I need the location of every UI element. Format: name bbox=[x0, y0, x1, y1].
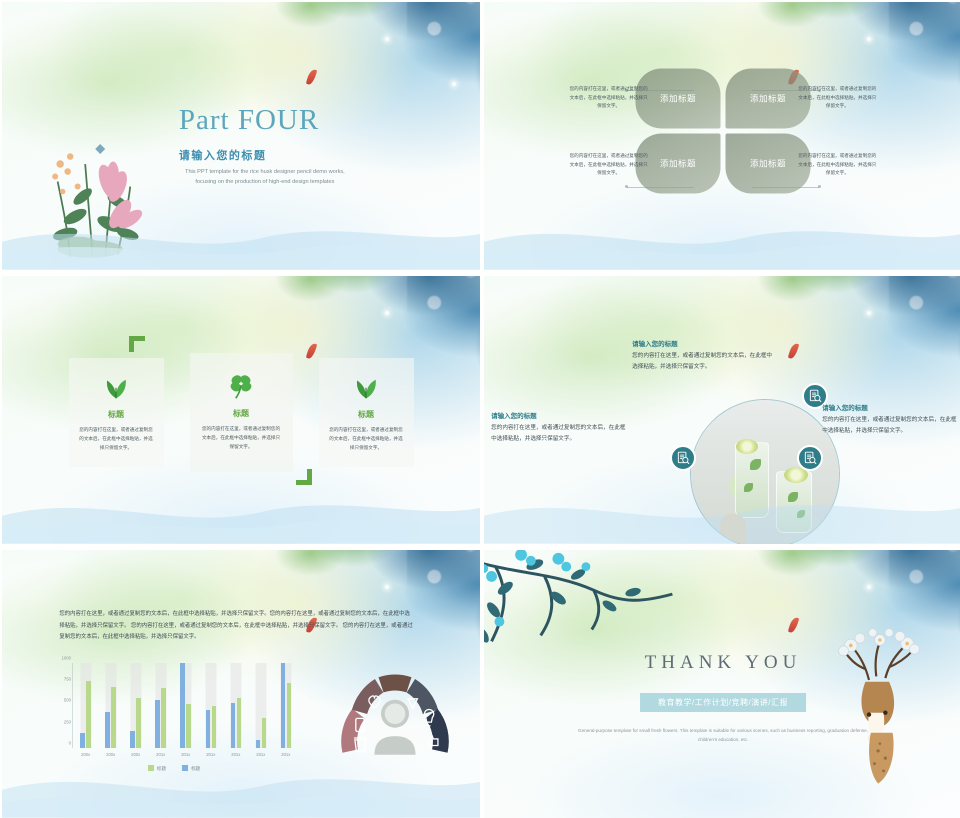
callout-body: 您的内容打在这里，或者通过复制您的文本后，在此框中选择粘贴，并选择只保留文字。 bbox=[491, 423, 626, 445]
slide-5-chart-and-persona[interactable]: 您的内容打在这里，或者通过复制您的文本后，在此框中选择粘贴，并选择只保留文字。您… bbox=[2, 550, 480, 818]
chart-bar-group: 200x bbox=[125, 663, 146, 749]
topic-banner: 教育教学/工作计划/竞聘/演讲/汇报 bbox=[640, 693, 806, 712]
chart-plot-area: 02505007501000200x200x200x201x201x201x20… bbox=[72, 663, 298, 749]
bar-chart: 02505007501000200x200x200x201x201x201x20… bbox=[50, 663, 299, 770]
bottom-wave-decor bbox=[484, 482, 960, 544]
feature-card[interactable]: 标题 您的内容打在这里，或者通过复制您的文本后，在此框中选择粘贴，并选择只保留文… bbox=[190, 353, 293, 472]
callout-right-bottom: 您的内容打在这里，或者通过复制您的文本后，在此框中选择粘贴，并选择只保留文字。 bbox=[796, 152, 878, 177]
chart-bar-series-green bbox=[111, 687, 116, 749]
leaf-icon bbox=[79, 374, 154, 400]
callout-body: 您的内容打在这里，或者通过复制您的文本后，在此框中选择粘贴，并选择只保留文字。 bbox=[632, 351, 774, 373]
callout-right-top: 您的内容打在这里，或者通过复制您的文本后，在此框中选择粘贴，并选择只保留文字。 bbox=[796, 85, 878, 110]
slide-3-three-card-layout[interactable]: 标题 您的内容打在这里，或者通过复制您的文本后，在此框中选择粘贴，并选择只保留文… bbox=[2, 276, 480, 544]
tree-canopy-illustration bbox=[241, 2, 480, 115]
feature-card[interactable]: 标题 您的内容打在这里，或者通过复制您的文本后，在此框中选择粘贴，并选择只保留文… bbox=[69, 358, 164, 467]
chart-y-tick-label: 1000 bbox=[62, 655, 71, 660]
chart-bar-series-blue bbox=[231, 703, 236, 748]
document-search-icon bbox=[803, 451, 817, 465]
bottom-wave-decor bbox=[2, 482, 480, 544]
slide-2-four-petal-diagram[interactable]: 添加标题 添加标题 添加标题 添加标题 您的内容打在这里，或者通过复制您的文本后… bbox=[484, 2, 960, 270]
body-paragraph: 您的内容打在这里，或者通过复制您的文本后，在此框中选择粘贴，并选择只保留文字。您… bbox=[59, 609, 413, 644]
card-body: 您的内容打在这里，或者通过复制您的文本后，在此框中选择粘贴，并选择只保留文字。 bbox=[79, 426, 154, 453]
slide-4-circular-photo-callouts[interactable]: 请输入您的标题 您的内容打在这里，或者通过复制您的文本后，在此框中选择粘贴，并选… bbox=[484, 276, 960, 544]
callout-heading: 请输入您的标题 bbox=[822, 402, 957, 412]
chart-bar-series-green bbox=[212, 706, 217, 748]
bottom-wave-decor bbox=[484, 208, 960, 270]
slide-deck-grid: Part FOUR 请输入您的标题 This PPT template for … bbox=[0, 0, 960, 816]
chart-y-tick-label: 0 bbox=[69, 741, 71, 746]
chart-bar-series-green bbox=[136, 698, 141, 749]
callout-right: 请输入您的标题 您的内容打在这里，或者通过复制您的文本后，在此框中选择粘贴，并选… bbox=[822, 402, 957, 437]
chart-bar-group: 200x bbox=[100, 663, 121, 749]
slide-6-thank-you[interactable]: THANK YOU 教育教学/工作计划/竞聘/演讲/汇报 General-pur… bbox=[484, 550, 960, 818]
chart-bar-series-blue bbox=[180, 663, 185, 749]
card-title: 标题 bbox=[329, 409, 404, 420]
page-subtitle: 请输入您的标题 bbox=[179, 147, 267, 163]
callout-body: 您的内容打在这里，或者通过复制您的文本后，在此框中选择粘贴，并选择只保留文字。 bbox=[822, 415, 957, 437]
callout-heading: 请输入您的标题 bbox=[632, 338, 774, 348]
document-search-icon bbox=[676, 451, 690, 465]
chart-bar-group: 200x bbox=[75, 663, 96, 749]
chart-y-tick-label: 250 bbox=[64, 719, 71, 724]
leaf-icon bbox=[329, 374, 404, 400]
page-title: Part FOUR bbox=[179, 104, 319, 137]
chart-bar-series-blue bbox=[256, 740, 261, 749]
callout-left: 请输入您的标题 您的内容打在这里，或者通过复制您的文本后，在此框中选择粘贴，并选… bbox=[491, 410, 626, 445]
chart-bar-series-blue bbox=[281, 663, 286, 749]
chart-bar-group: 201x bbox=[150, 663, 171, 749]
callout-heading: 请输入您的标题 bbox=[491, 410, 626, 420]
chart-bar-series-blue bbox=[80, 733, 85, 748]
cup-icon bbox=[354, 738, 367, 751]
bottom-wave-decor bbox=[2, 208, 480, 270]
chart-bar-series-green bbox=[86, 681, 91, 749]
chart-bar-group: 201x bbox=[201, 663, 222, 749]
chart-bar-series-blue bbox=[130, 731, 135, 748]
blue-blossom-branch bbox=[484, 550, 694, 663]
chart-bar-series-green bbox=[262, 718, 267, 748]
petal-diagram: 添加标题 添加标题 添加标题 添加标题 bbox=[636, 68, 811, 193]
callout-left-top: 您的内容打在这里，或者通过复制您的文本后，在此框中选择粘贴，并选择只保留文字。 bbox=[568, 85, 650, 110]
card-body: 您的内容打在这里，或者通过复制您的文本后，在此框中选择粘贴，并选择只保留文字。 bbox=[201, 425, 282, 452]
diamond-icon bbox=[408, 699, 417, 708]
thank-you-title: THANK YOU bbox=[645, 652, 802, 674]
chart-bar-group: 201x bbox=[175, 663, 196, 749]
female-user-silhouette-icon bbox=[385, 704, 406, 725]
chart-bar-series-blue bbox=[105, 712, 110, 748]
chart-bar-group: 201x bbox=[251, 663, 272, 749]
butterfly-icon bbox=[95, 144, 105, 154]
flower-antlered-deer-illustration bbox=[829, 617, 929, 794]
feature-card[interactable]: 标题 您的内容打在这里，或者通过复制您的文本后，在此框中选择粘贴，并选择只保留文… bbox=[319, 358, 414, 467]
card-title: 标题 bbox=[201, 408, 282, 419]
chart-bar-series-blue bbox=[155, 700, 160, 748]
callout-left-bottom: 您的内容打在这里，或者通过复制您的文本后，在此框中选择粘贴，并选择只保留文字。 bbox=[568, 152, 650, 177]
page-description: This PPT template for the rice husk desi… bbox=[174, 168, 356, 188]
chart-bar-group: 201x bbox=[276, 663, 297, 749]
chart-bar-series-green bbox=[186, 704, 191, 749]
slide-1-section-divider[interactable]: Part FOUR 请输入您的标题 This PPT template for … bbox=[2, 2, 480, 270]
card-row: 标题 您的内容打在这里，或者通过复制您的文本后，在此框中选择粘贴，并选择只保留文… bbox=[2, 348, 480, 477]
document-search-icon-badge-right[interactable] bbox=[797, 445, 823, 471]
callout-top: 请输入您的标题 您的内容打在这里，或者通过复制您的文本后，在此框中选择粘贴，并选… bbox=[632, 338, 774, 373]
document-search-icon bbox=[808, 389, 822, 403]
chart-bar-group: 201x bbox=[226, 663, 247, 749]
chart-y-tick-label: 750 bbox=[64, 676, 71, 681]
tree-canopy-illustration bbox=[241, 550, 480, 663]
chart-bar-series-green bbox=[237, 698, 242, 749]
chart-bar-series-green bbox=[287, 683, 292, 748]
persona-ring-graphic bbox=[339, 665, 451, 755]
chart-bar-series-blue bbox=[206, 710, 211, 749]
card-title: 标题 bbox=[79, 409, 154, 420]
card-body: 您的内容打在这里，或者通过复制您的文本后，在此框中选择粘贴，并选择只保留文字。 bbox=[329, 426, 404, 453]
chart-y-tick-label: 500 bbox=[64, 698, 71, 703]
chart-bar-series-green bbox=[161, 688, 166, 748]
four-leaf-clover-icon bbox=[201, 373, 282, 399]
bottom-wave-decor bbox=[2, 756, 480, 818]
